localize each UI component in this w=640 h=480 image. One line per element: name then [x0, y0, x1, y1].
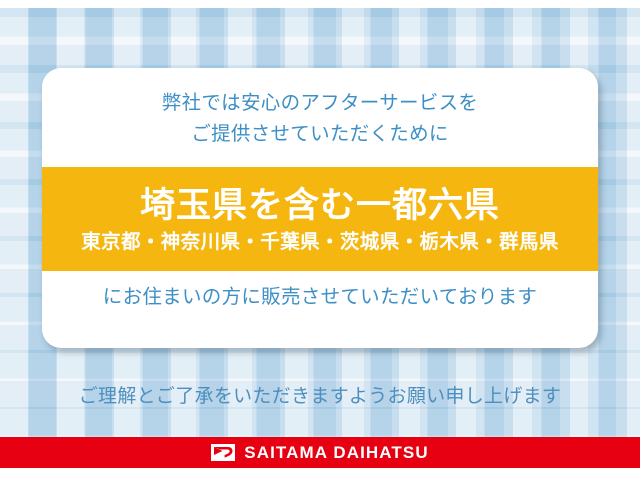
- card-top-message: 弊社では安心のアフターサービスを ご提供させていただくために: [42, 88, 598, 150]
- brand-footer-bar: SAITAMA DAIHATSU: [0, 437, 640, 468]
- closing-message: ご理解とご了承をいただきますようお願い申し上げます: [0, 381, 640, 408]
- banner-heading: 埼玉県を含む一都六県: [140, 184, 500, 228]
- top-white-strip: [0, 0, 640, 8]
- card-bottom-message: にお住まいの方に販売させていただいております: [42, 283, 598, 311]
- top-message-line-2: ご提供させていただくために: [42, 119, 598, 150]
- notice-banner-image: 弊社では安心のアフターサービスを ご提供させていただくために 埼玉県を含む一都六…: [0, 0, 640, 480]
- brand-name: SAITAMA DAIHATSU: [244, 443, 428, 463]
- daihatsu-d-mark-icon: [211, 444, 235, 461]
- notice-card: 弊社では安心のアフターサービスを ご提供させていただくために 埼玉県を含む一都六…: [42, 68, 598, 348]
- highlight-banner: 埼玉県を含む一都六県 東京都・神奈川県・千葉県・茨城県・栃木県・群馬県: [42, 167, 598, 271]
- bottom-white-strip: [0, 468, 640, 480]
- banner-prefecture-list: 東京都・神奈川県・千葉県・茨城県・栃木県・群馬県: [81, 229, 559, 255]
- top-message-line-1: 弊社では安心のアフターサービスを: [42, 88, 598, 119]
